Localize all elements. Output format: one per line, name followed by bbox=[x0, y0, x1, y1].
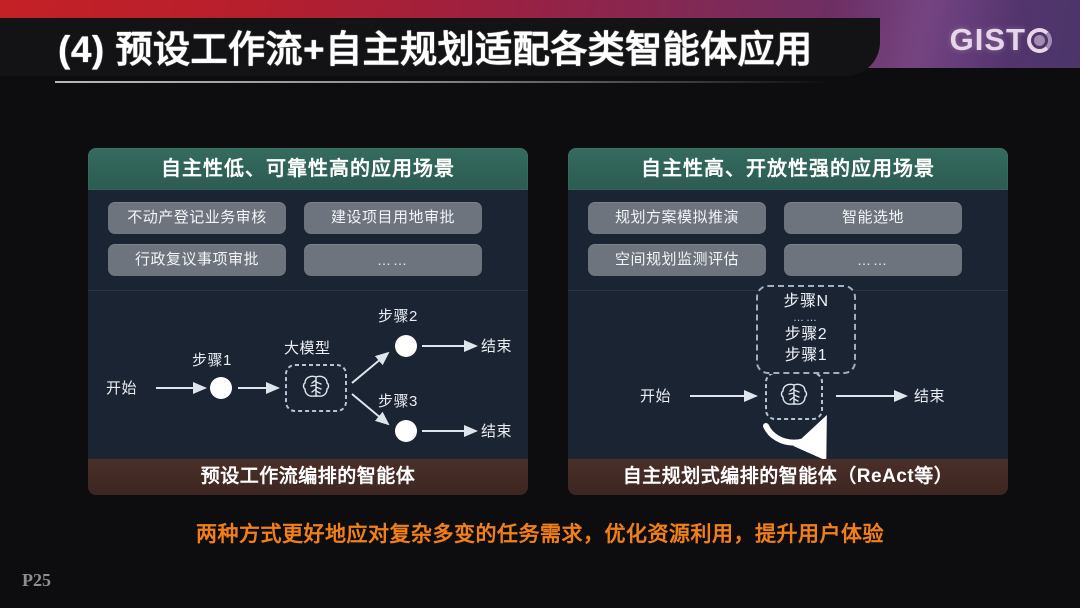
steps-stack-box: 步骤N …… 步骤2 步骤1 bbox=[756, 285, 856, 374]
tag-item-ellipsis[interactable]: …… bbox=[784, 244, 962, 276]
label-end: 结束 bbox=[914, 385, 945, 406]
label-model: 大模型 bbox=[284, 337, 331, 358]
title-divider bbox=[55, 81, 830, 83]
page-title: (4) 预设工作流+自主规划适配各类智能体应用 bbox=[58, 19, 813, 73]
logo-text: GIST bbox=[950, 22, 1026, 58]
panel-right-header: 自主性高、开放性强的应用场景 bbox=[568, 148, 1008, 190]
panel-autonomous-planning: 自主性高、开放性强的应用场景 规划方案模拟推演 智能选地 空间规划监测评估 …… bbox=[568, 148, 1008, 495]
panel-right-footer: 自主规划式编排的智能体（ReAct等） bbox=[568, 459, 1008, 495]
steps-ellipsis: …… bbox=[770, 312, 842, 324]
label-start: 开始 bbox=[106, 377, 137, 398]
panel-left-footer: 预设工作流编排的智能体 bbox=[88, 459, 528, 495]
tag-item[interactable]: 规划方案模拟推演 bbox=[588, 202, 766, 234]
panel-right-diagram: 步骤N …… 步骤2 步骤1 开始 结束 bbox=[568, 290, 1008, 459]
panel-left-header: 自主性低、可靠性高的应用场景 bbox=[88, 148, 528, 190]
label-step1: 步骤1 bbox=[192, 349, 232, 370]
tag-item[interactable]: 智能选地 bbox=[784, 202, 962, 234]
tag-item-ellipsis[interactable]: …… bbox=[304, 244, 482, 276]
panel-left-diagram: 开始 步骤1 大模型 步骤2 步骤3 结束 结束 bbox=[88, 290, 528, 459]
bottom-note: 两种方式更好地应对复杂多变的任务需求，优化资源利用，提升用户体验 bbox=[0, 518, 1080, 548]
panel-preset-workflow: 自主性低、可靠性高的应用场景 不动产登记业务审核 建设项目用地审批 行政复议事项… bbox=[88, 148, 528, 495]
tag-item[interactable]: 建设项目用地审批 bbox=[304, 202, 482, 234]
tag-item[interactable]: 空间规划监测评估 bbox=[588, 244, 766, 276]
globe-icon bbox=[1027, 28, 1052, 53]
panel-right-tags: 规划方案模拟推演 智能选地 空间规划监测评估 …… bbox=[568, 190, 1008, 290]
label-step3: 步骤3 bbox=[378, 390, 418, 411]
steps-line: 步骤1 bbox=[770, 345, 842, 366]
gistc-logo: GIST bbox=[950, 22, 1052, 58]
left-flow-svg bbox=[88, 291, 528, 459]
tag-item[interactable]: 行政复议事项审批 bbox=[108, 244, 286, 276]
page-number: P25 bbox=[22, 570, 51, 591]
tag-item[interactable]: 不动产登记业务审核 bbox=[108, 202, 286, 234]
steps-line: 步骤N bbox=[770, 291, 842, 312]
label-start: 开始 bbox=[640, 385, 671, 406]
label-step2: 步骤2 bbox=[378, 305, 418, 326]
panel-left-tags: 不动产登记业务审核 建设项目用地审批 行政复议事项审批 …… bbox=[88, 190, 528, 290]
label-end-top: 结束 bbox=[481, 335, 512, 356]
steps-line: 步骤2 bbox=[770, 324, 842, 345]
label-end-bottom: 结束 bbox=[481, 420, 512, 441]
